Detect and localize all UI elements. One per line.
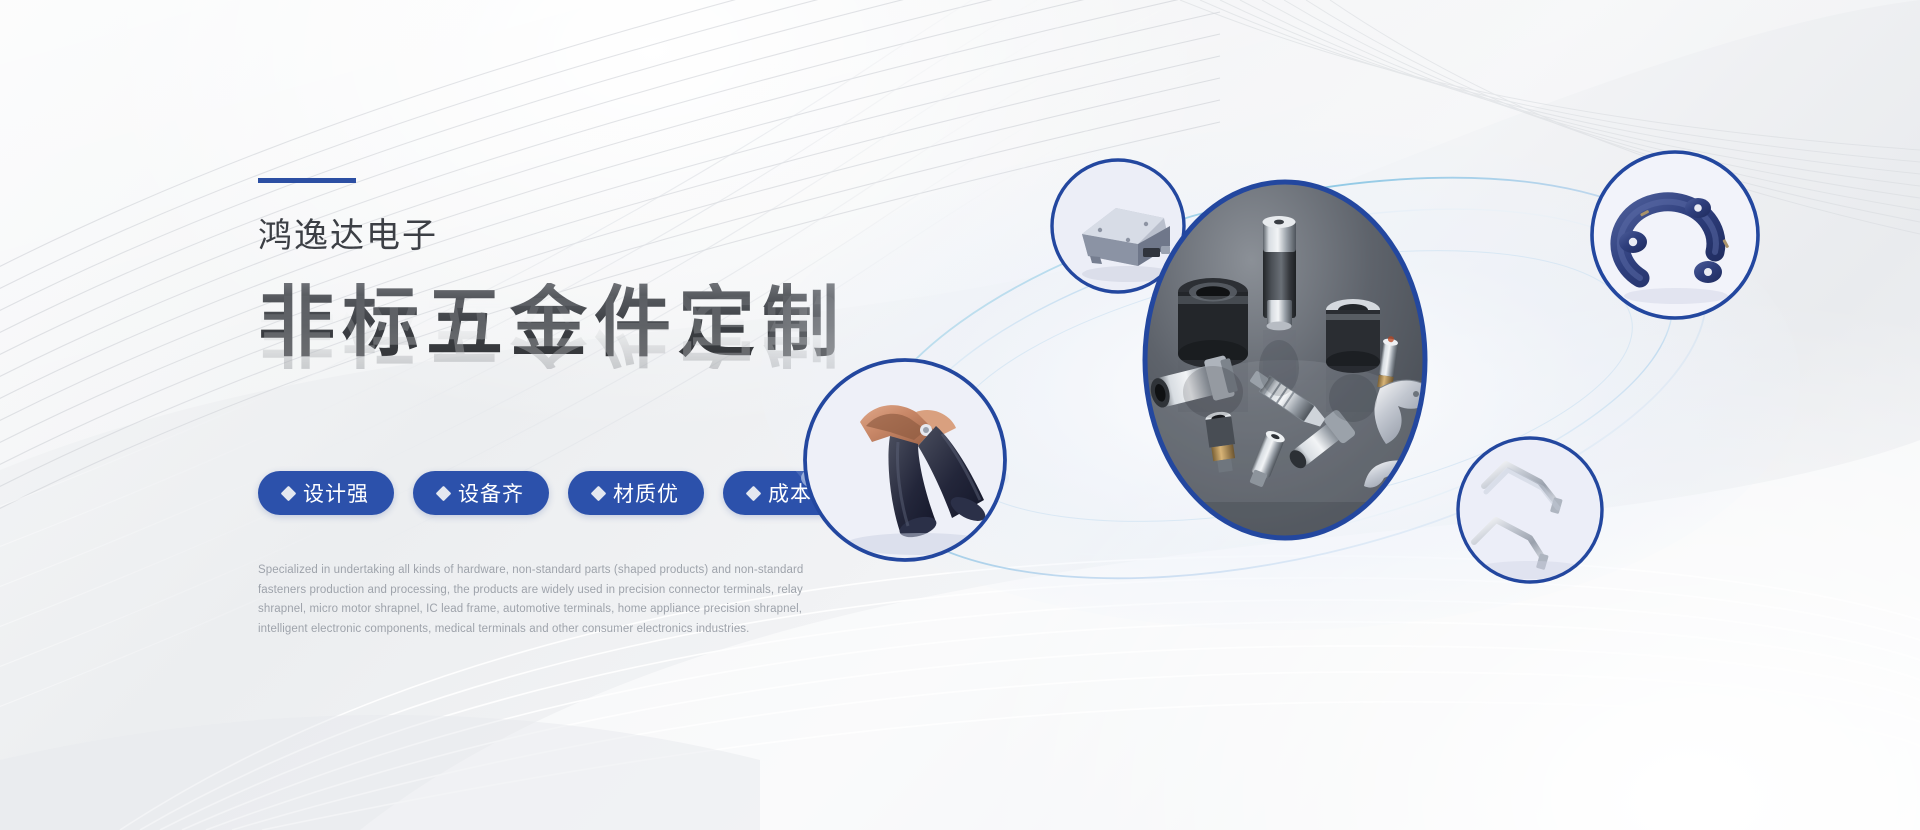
feature-badge-label: 设备齐	[458, 478, 524, 508]
product-showcase-graphic	[740, 130, 1840, 610]
hero-banner: 鸿逸达电子 非标五金件定制 非标五金件定制 设计强 设备齐 材质优 成本低	[0, 0, 1920, 830]
feature-badge-label: 设计强	[303, 478, 369, 508]
node-clamp	[801, 360, 1009, 560]
feature-badge-label: 材质优	[613, 478, 679, 508]
accent-rule	[258, 178, 356, 183]
feature-badge[interactable]: 材质优	[568, 471, 704, 515]
diamond-icon	[436, 485, 452, 501]
diamond-icon	[591, 485, 607, 501]
feature-badge[interactable]: 设备齐	[413, 471, 549, 515]
diamond-icon	[281, 485, 297, 501]
node-terminals	[1458, 438, 1602, 582]
feature-badge[interactable]: 设计强	[258, 471, 394, 515]
